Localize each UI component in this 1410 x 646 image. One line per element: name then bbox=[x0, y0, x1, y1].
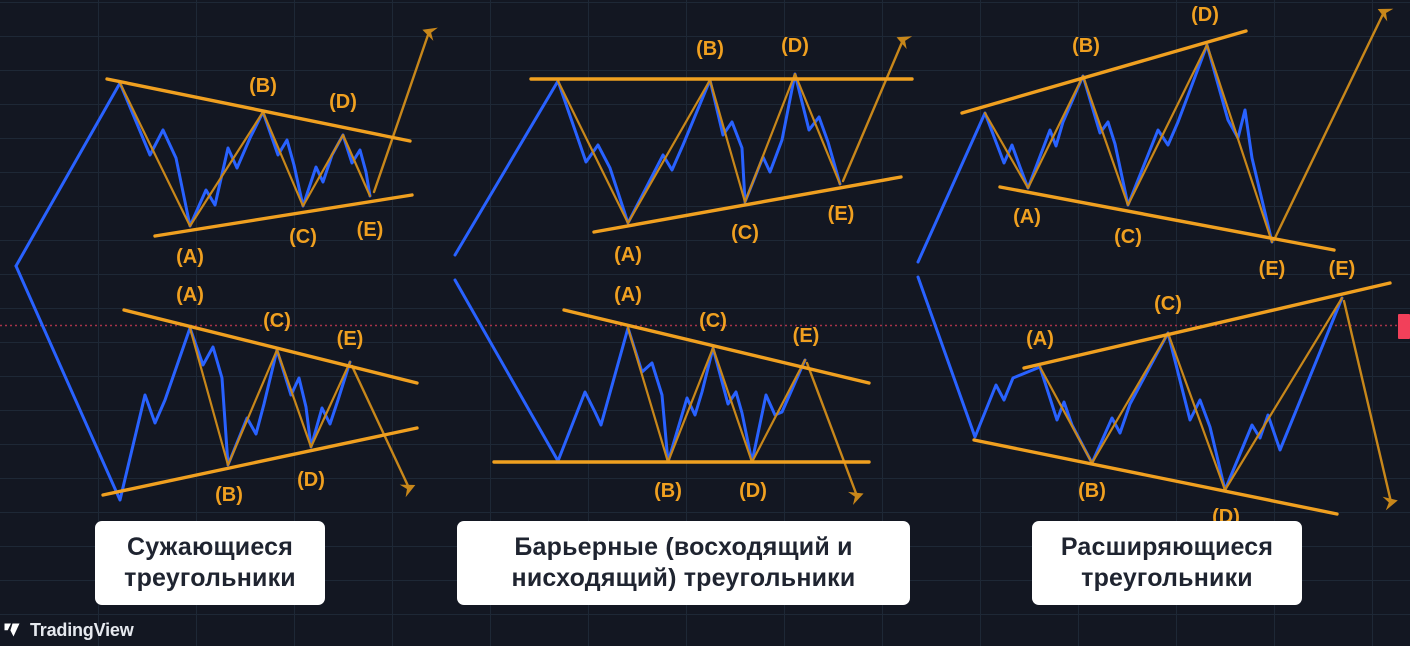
wave-label-e: (E) bbox=[357, 219, 384, 241]
caption-card-barrier: Барьерные (восходящий и нисходящий) треу… bbox=[457, 521, 910, 605]
wave-label-b: (B) bbox=[1072, 35, 1100, 57]
wave-label-d: (D) bbox=[781, 35, 809, 57]
wave-label-c: (C) bbox=[289, 226, 317, 248]
wave-label-e: (E) bbox=[337, 328, 364, 350]
caption-text: Барьерные (восходящий и нисходящий) треу… bbox=[469, 532, 898, 595]
wave-label-a: (A) bbox=[614, 284, 642, 306]
wave-label-d: (D) bbox=[297, 469, 325, 491]
wave-label-e: (E) bbox=[828, 203, 855, 225]
wave-label-c: (C) bbox=[263, 310, 291, 332]
wave-label-a: (A) bbox=[1013, 206, 1041, 228]
caption-card-contracting: Сужающиеся треугольники bbox=[95, 521, 325, 605]
wave-label-c: (C) bbox=[699, 310, 727, 332]
wave-label-a: (A) bbox=[176, 246, 204, 268]
wave-label-e: (E) bbox=[793, 325, 820, 347]
breakout-arrow bbox=[352, 12, 1391, 502]
tradingview-logo-icon bbox=[4, 622, 24, 640]
caption-text: Сужающиеся треугольники bbox=[105, 532, 315, 595]
wave-label-b: (B) bbox=[654, 480, 682, 502]
wave-label-e: (E) bbox=[1329, 258, 1356, 280]
wave-label-c: (C) bbox=[1114, 226, 1142, 248]
tradingview-chart-canvas: (A) (B) (C) (D) (E) (A) (B) (C) (D) (E) … bbox=[0, 0, 1410, 646]
wave-label-c: (C) bbox=[731, 222, 759, 244]
wave-label-d: (D) bbox=[739, 480, 767, 502]
wave-label-a: (A) bbox=[1026, 328, 1054, 350]
wave-label-c: (C) bbox=[1154, 293, 1182, 315]
wave-label-a: (A) bbox=[614, 244, 642, 266]
wave-label-d: (D) bbox=[1191, 4, 1219, 26]
caption-text: Расширяющиеся треугольники bbox=[1042, 532, 1292, 595]
wave-count-overlay bbox=[120, 45, 1342, 490]
wave-label-group: (A) (B) (C) (D) (E) (A) (B) (C) (D) (E) … bbox=[176, 4, 1355, 528]
wave-label-e: (E) bbox=[1259, 258, 1286, 280]
wave-label-b: (B) bbox=[696, 38, 724, 60]
wave-label-b: (B) bbox=[249, 75, 277, 97]
tradingview-watermark: TradingView bbox=[4, 620, 134, 641]
tradingview-wordmark: TradingView bbox=[30, 620, 134, 641]
caption-card-expanding: Расширяющиеся треугольники bbox=[1032, 521, 1302, 605]
wave-label-b: (B) bbox=[215, 484, 243, 506]
wave-label-b: (B) bbox=[1078, 480, 1106, 502]
wave-label-d: (D) bbox=[329, 91, 357, 113]
price-marker-badge bbox=[1398, 314, 1410, 339]
wave-label-a: (A) bbox=[176, 284, 204, 306]
